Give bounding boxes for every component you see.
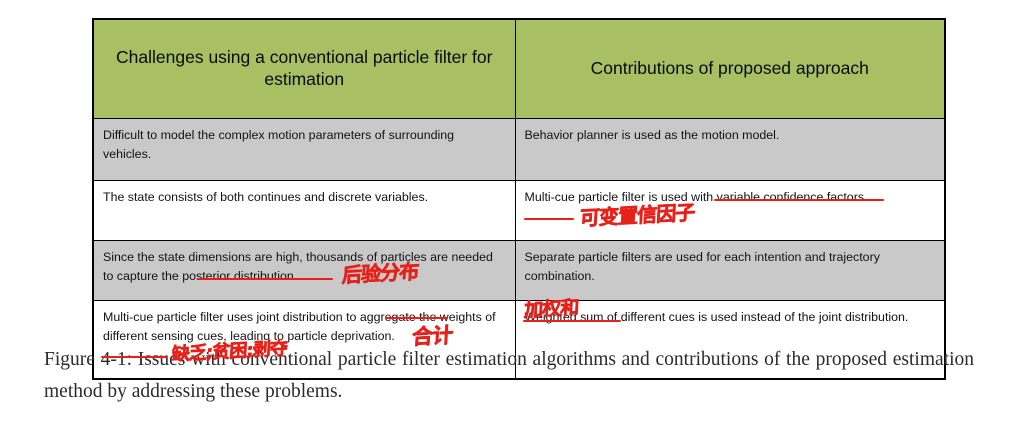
annotation-underline-deprivation	[101, 356, 167, 358]
challenge-text-2: The state consists of both continues and…	[103, 188, 506, 207]
header-cell-challenges: Challenges using a conventional particle…	[93, 19, 515, 119]
annotation-underline-factors	[524, 218, 574, 220]
challenge-cell-2: The state consists of both continues and…	[93, 181, 515, 241]
annotation-underline-posterior-distribution	[198, 278, 333, 280]
table-row: Difficult to model the complex motion pa…	[93, 119, 945, 181]
figure-table: Challenges using a conventional particle…	[92, 18, 946, 380]
contribution-text-3: Separate particle filters are used for e…	[525, 248, 936, 286]
challenge-text-1: Difficult to model the complex motion pa…	[103, 126, 506, 164]
contribution-cell-1: Behavior planner is used as the motion m…	[515, 119, 945, 181]
handwritten-annotation-variable-confidence-factors: 可变置信因子	[579, 196, 695, 231]
handwritten-annotation-posterior-distribution: 后验分布	[341, 255, 419, 288]
challenge-cell-1: Difficult to model the complex motion pa…	[93, 119, 515, 181]
table-header-row: Challenges using a conventional particle…	[93, 19, 945, 119]
table-row: The state consists of both continues and…	[93, 181, 945, 241]
challenge-cell-3: Since the state dimensions are high, tho…	[93, 241, 515, 301]
contribution-cell-2: Multi-cue particle filter is used with v…	[515, 181, 945, 241]
header-label-contributions: Contributions of proposed approach	[591, 58, 869, 78]
handwritten-annotation-weighted-sum: 加权和	[523, 293, 579, 323]
contribution-text-4: Weighted sum of different cues is used i…	[525, 308, 936, 327]
challenge-text-3: Since the state dimensions are high, tho…	[103, 248, 506, 286]
contribution-cell-3: Separate particle filters are used for e…	[515, 241, 945, 301]
handwritten-annotation-aggregate: 合计	[411, 319, 453, 351]
header-label-challenges: Challenges using a conventional particle…	[116, 47, 492, 89]
annotation-underline-variable-confidence	[714, 199, 884, 201]
table-row: Since the state dimensions are high, tho…	[93, 241, 945, 301]
contribution-text-1: Behavior planner is used as the motion m…	[525, 126, 936, 145]
header-cell-contributions: Contributions of proposed approach	[515, 19, 945, 119]
